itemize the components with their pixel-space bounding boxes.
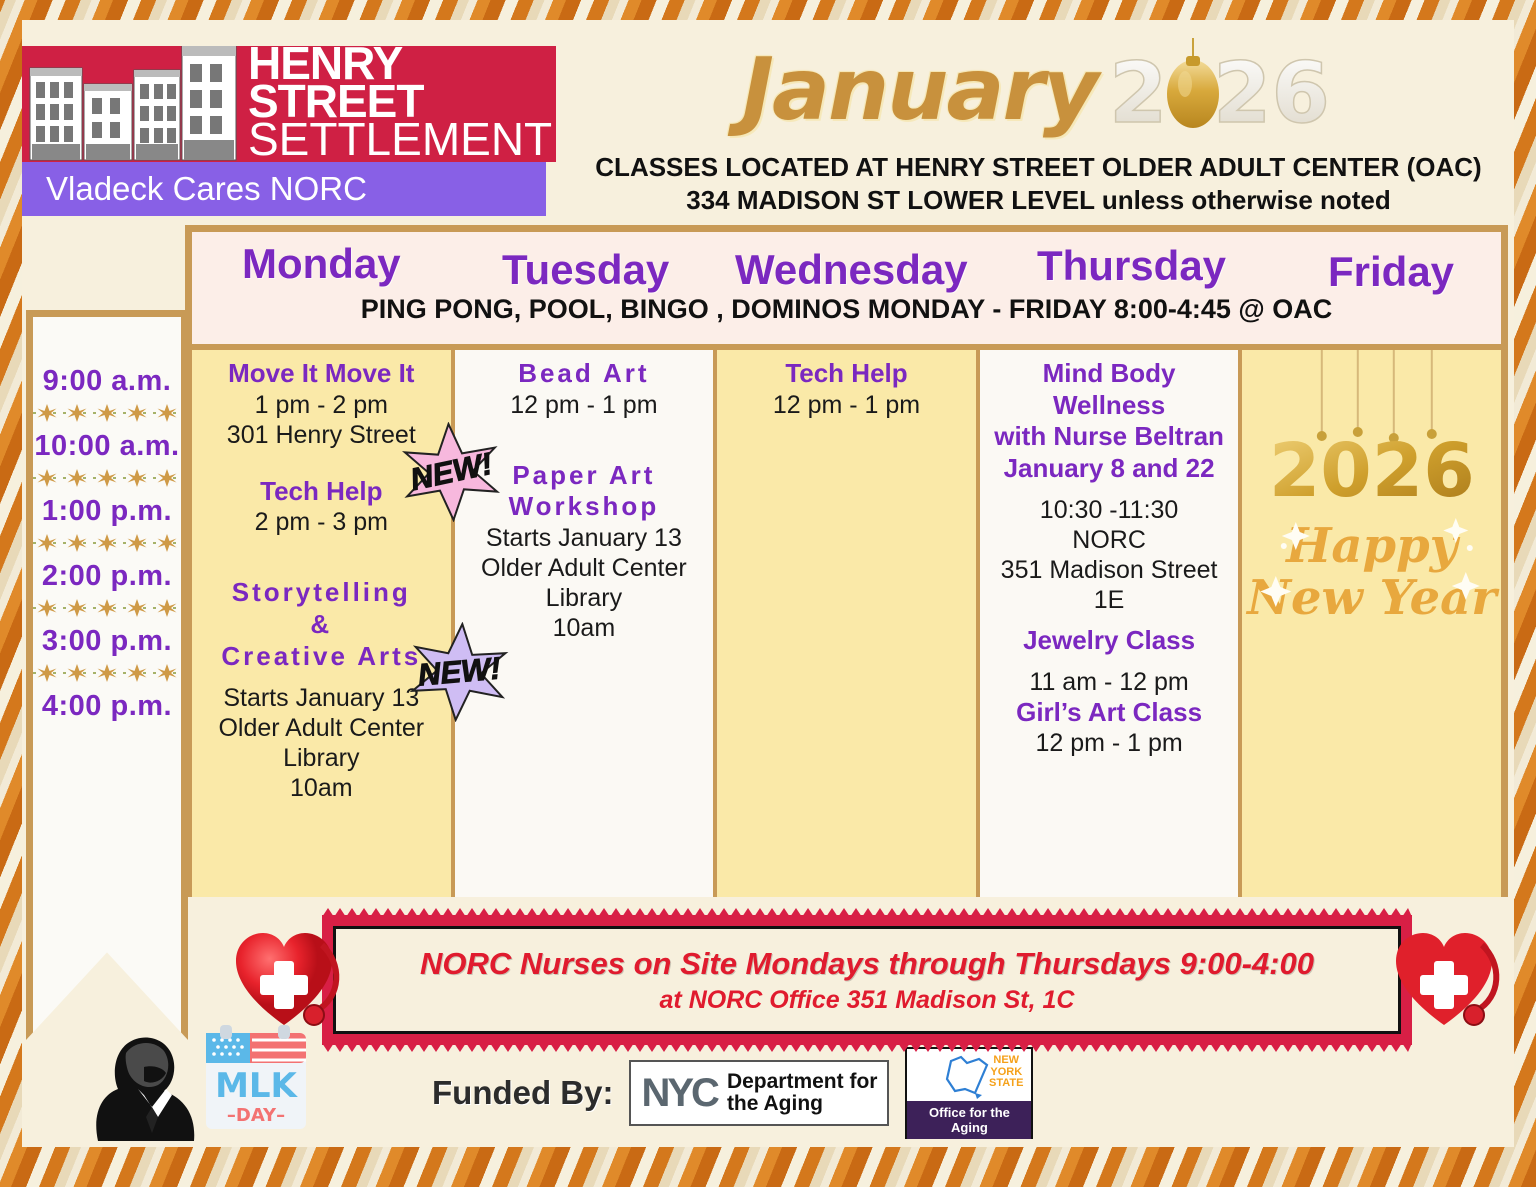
event-title: Storytelling [198,577,445,609]
time-row: 10:00 a.m. [33,424,181,467]
location-line-1: CLASSES LOCATED AT HENRY STREET OLDER AD… [567,152,1510,183]
norc-nurses-banner: NORC Nurses on Site Mondays through Thur… [322,915,1412,1045]
time-label-4pm: 4:00 p.m. [33,684,181,727]
nyc-dept-line-2: the Aging [727,1093,878,1115]
time-divider [33,467,181,489]
time-label-9am: 9:00 a.m. [33,359,181,402]
year-ornament-2026-icon: 2 26 [1105,36,1335,144]
event-time: 12 pm - 1 pm [986,728,1233,758]
header-title-block: January 2 26 [567,30,1510,216]
nyc-wordmark: NYC [641,1071,716,1116]
nyc-department-name: Department for the Aging [727,1071,878,1115]
event-title: Girl’s Art Class [986,697,1233,729]
event-title: Mind Body Wellness [986,358,1233,421]
zigzag-top-edge-icon [322,908,1412,917]
event-time: 12 pm - 1 pm [461,390,708,420]
time-row: 3:00 p.m. [33,619,181,662]
time-row: 1:00 p.m. [33,489,181,532]
event-title: with Nurse Beltran [986,421,1233,453]
calendar-column-wednesday: Tech Help 12 pm - 1 pm [717,350,980,897]
event-location: Library [198,743,445,773]
logo-line-1: HENRY STREET [248,46,556,121]
event-start-date: Starts January 13 [461,523,708,553]
svg-text:New Year: New Year [1245,570,1500,626]
logo-red-bar: HENRY STREET SETTLEMENT [22,46,556,162]
weekly-calendar: Monday Tuesday Wednesday Thursday Friday… [185,225,1508,897]
time-column-banner: 9:00 a.m. 10:00 a.m. [26,310,188,1040]
nys-line-1: NEW [989,1055,1023,1067]
heart-stethoscope-icon [1390,925,1506,1037]
location-line-2: 334 MADISON ST LOWER LEVEL unless otherw… [567,185,1510,216]
day-header-wednesday: Wednesday [735,246,968,294]
logo-wordmark: HENRY STREET SETTLEMENT [244,46,556,162]
flyer-page: HENRY STREET SETTLEMENT Vladeck Cares NO… [22,20,1514,1147]
new-badge-pink-icon: NEW! [396,419,505,524]
day-header-tuesday: Tuesday [502,246,669,294]
zigzag-bottom-edge-icon [322,1043,1412,1052]
time-row: 4:00 p.m. [33,684,181,727]
nyc-dfta-logo: NYC Department for the Aging [629,1060,889,1126]
event-time: 1 pm - 2 pm [198,390,445,420]
event-title: Move It Move It [198,358,445,390]
nurse-banner-line-2: at NORC Office 351 Madison St, 1C [660,986,1075,1015]
time-divider [33,597,181,619]
event-location: Library [461,583,708,613]
henry-street-logo: HENRY STREET SETTLEMENT Vladeck Cares NO… [22,46,556,216]
event-time: 11 am - 12 pm [986,667,1233,697]
nys-logo-top: NEW YORK STATE [907,1049,1031,1101]
event-location: Older Adult Center [461,553,708,583]
nys-office-label: Office for the Aging [907,1101,1031,1139]
svg-text:2: 2 [1109,44,1167,142]
event-dates: January 8 and 22 [986,453,1233,485]
new-badge-purple-icon: NEW! [403,618,514,725]
time-row: 2:00 p.m. [33,554,181,597]
event-title: Tech Help [723,358,970,390]
mlk-day-calendar-icon: MLK –DAY– [206,1025,306,1129]
day-header-friday: Friday [1328,248,1454,296]
svg-text:Happy: Happy [1284,518,1461,574]
event-time: 10am [198,773,445,803]
event-title: Jewelry Class [986,625,1233,657]
mlk-portrait-icon [96,1037,194,1141]
nys-office-for-aging-logo: NEW YORK STATE Office for the Aging [905,1047,1033,1139]
heart-stethoscope-icon [230,925,346,1037]
time-label-3pm: 3:00 p.m. [33,619,181,662]
month-year-row: January 2 26 [567,30,1510,150]
funded-by-label: Funded By: [432,1074,613,1112]
time-label-1pm: 1:00 p.m. [33,489,181,532]
day-header-monday: Monday [242,240,401,288]
calendar-column-monday: Move It Move It 1 pm - 2 pm 301 Henry St… [192,350,455,897]
event-time: 10:30 -11:30 [986,495,1233,525]
time-label-10am: 10:00 a.m. [33,424,181,467]
svg-text:MLK: MLK [215,1066,298,1106]
logo-line-2: SETTLEMENT [248,121,556,159]
event-time: 12 pm - 1 pm [723,390,970,420]
time-divider [33,532,181,554]
event-title: Bead Art [461,358,708,390]
nys-state-label: NEW YORK STATE [989,1055,1023,1090]
funders-row: Funded By: NYC Department for the Aging … [432,1047,1033,1139]
svg-text:26: 26 [1213,44,1330,142]
calendar-column-thursday: Mind Body Wellness with Nurse Beltran Ja… [980,350,1243,897]
time-row: 9:00 a.m. [33,359,181,402]
event-location: 351 Madison Street 1E [986,555,1233,615]
new-badge-label: NEW! [416,650,501,693]
day-header-bar: Monday Tuesday Wednesday Thursday Friday… [192,232,1501,344]
happy-new-year-decoration-icon: 2026 Happy New Year [1242,350,1501,670]
month-label: January [742,40,1097,140]
event-title-amp: & [198,609,445,641]
svg-text:2026: 2026 [1269,428,1475,514]
day-header-thursday: Thursday [1037,242,1226,290]
time-divider [33,662,181,684]
tenement-buildings-icon [22,46,244,162]
calendar-column-friday: 2026 Happy New Year [1242,350,1501,897]
event-location: NORC [986,525,1233,555]
calendar-grid: Move It Move It 1 pm - 2 pm 301 Henry St… [192,344,1501,897]
nyc-dept-line-1: Department for [727,1071,878,1093]
nys-line-3: STATE [989,1078,1023,1090]
time-divider [33,402,181,424]
all-day-activities-note: PING PONG, POOL, BINGO , DOMINOS MONDAY … [192,294,1501,325]
time-label-2pm: 2:00 p.m. [33,554,181,597]
program-name-bar: Vladeck Cares NORC [22,162,546,216]
svg-text:–DAY–: –DAY– [227,1105,285,1126]
nurse-banner-line-1: NORC Nurses on Site Mondays through Thur… [420,946,1314,982]
nurse-banner-inner: NORC Nurses on Site Mondays through Thur… [333,926,1401,1034]
